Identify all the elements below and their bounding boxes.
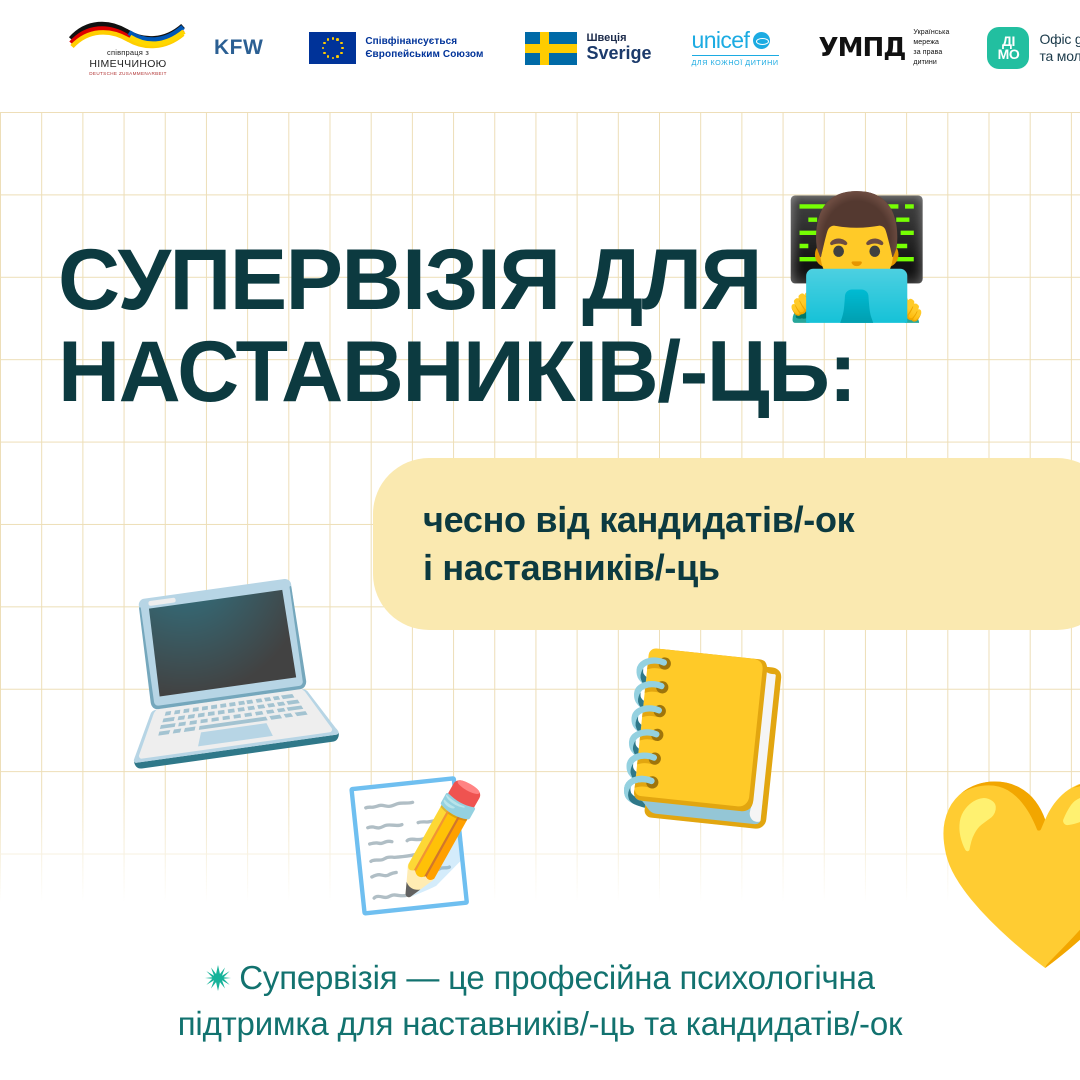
logo-germany-line1: співпраця з [107, 49, 149, 58]
logo-umpd-line4: дитини [913, 58, 949, 68]
memo-pencil-emoji: 📝 [341, 778, 499, 911]
logo-unicef-tagline: ДЛЯ КОЖНОЇ ДИТИНИ [692, 58, 779, 67]
subtitle-card: чесно від кандидатів/-ок і наставників/-… [373, 458, 1080, 630]
dimo-badge-icon: ДІ МО [987, 27, 1029, 69]
logo-eu-line1: Співфінансується [365, 35, 483, 49]
logo-dimo-line2: та молоді [1039, 48, 1080, 65]
unicef-globe-icon [753, 32, 770, 49]
subtitle-text: чесно від кандидатів/-ок і наставників/-… [423, 496, 854, 592]
logo-unicef: unicef ДЛЯ КОЖНОЇ ДИТИНИ [692, 29, 779, 67]
unicef-divider [692, 55, 779, 56]
spiral-notebook-emoji: 📒 [596, 648, 811, 828]
logo-european-union: Співфінансується Європейським Союзом [309, 32, 483, 64]
logo-dimo-badge-bottom: МО [998, 48, 1020, 61]
person-with-laptop-emoji: 👨‍💻 [782, 198, 931, 318]
logo-germany-cooperation: співпраця з НІМЕЧЧИНОЮ DEUTSCHE ZUSAMMEN… [64, 19, 192, 76]
logo-dimo-line1: Офіс gimeй [1039, 31, 1080, 48]
caption-line1: Супервізія — це професійна психологічна [239, 959, 874, 996]
logo-unicef-word: unicef [692, 29, 750, 52]
germany-ukraine-ribbon-icon [69, 19, 187, 49]
caption-line2: підтримка для наставників/-ць та кандида… [0, 1001, 1080, 1047]
logo-dimo-office: ДІ МО Офіс gimeй та молоді [987, 27, 1080, 69]
logo-umpd-line2: мережа [913, 38, 949, 48]
logo-child-rights-network: УМПД Українська мережа за права дитини [819, 28, 950, 69]
page-title-line2: НАСТАВНИКІВ/-ЦЬ: [58, 326, 1018, 418]
poster-canvas: співпраця з НІМЕЧЧИНОЮ DEUTSCHE ZUSAMMEN… [0, 0, 1080, 1080]
caption-block: Супервізія — це професійна психологічна … [0, 955, 1080, 1046]
subtitle-line1: чесно від кандидатів/-ок [423, 496, 854, 544]
logo-umpd-line3: за права [913, 48, 949, 58]
eu-flag-icon [309, 32, 356, 64]
logo-sweden-line2: Sverige [586, 44, 651, 64]
logo-germany-line2: НІМЕЧЧИНОЮ [89, 58, 166, 71]
caption-line1-wrap: Супервізія — це професійна психологічна [0, 955, 1080, 1001]
sparkle-icon [205, 965, 231, 991]
logo-sweden: Швеція Sverige [525, 32, 651, 65]
logo-umpd-mark: УМПД [819, 35, 906, 61]
laptop-emoji: 💻 [96, 547, 350, 762]
logo-kfw: KFW [214, 36, 263, 60]
yellow-heart-emoji: 💛 [930, 782, 1080, 967]
sweden-flag-icon [525, 32, 577, 65]
logo-germany-line3: DEUTSCHE ZUSAMMENARBEIT [89, 71, 166, 77]
subtitle-line2: і наставників/-ць [423, 544, 854, 592]
logo-umpd-line1: Українська [913, 28, 949, 38]
partner-logo-strip: співпраця з НІМЕЧЧИНОЮ DEUTSCHE ZUSAMMEN… [0, 0, 1080, 96]
logo-eu-line2: Європейським Союзом [365, 48, 483, 62]
